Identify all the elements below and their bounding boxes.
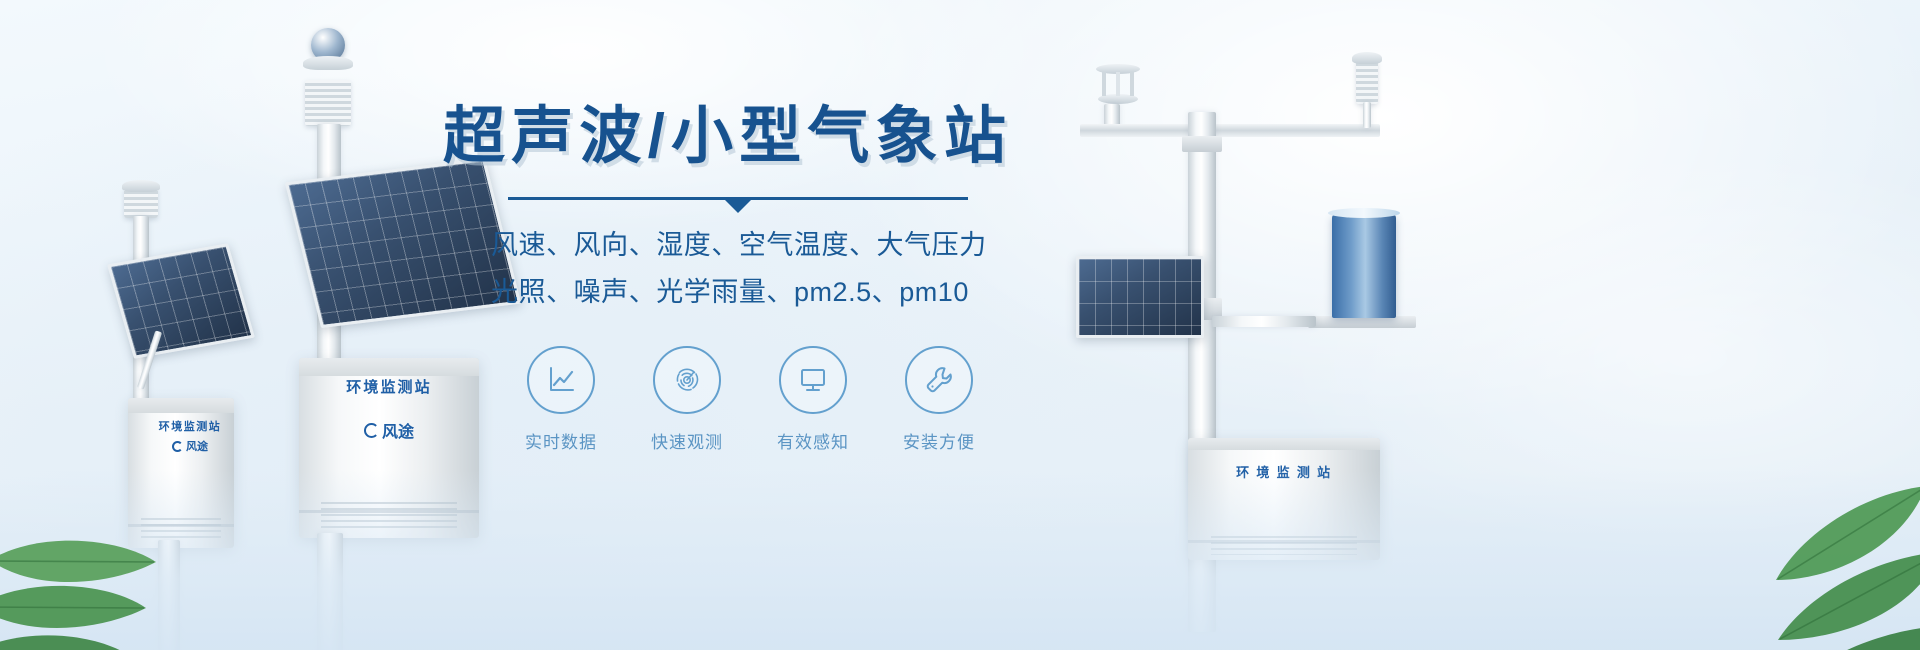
cabinet-brand-front: 风途	[172, 438, 208, 454]
rain-gauge-lip	[1328, 208, 1400, 218]
radar-sensing-icon	[670, 363, 704, 397]
feature-label-1: 实时数据	[525, 428, 597, 453]
solar-panel-front	[107, 243, 255, 359]
product-banner: 环境监测站 风途 环境监测站 风途	[0, 0, 1920, 650]
feature-circle-3	[779, 346, 847, 414]
cabinet-top-right	[1188, 438, 1380, 450]
feature-item-easy-install[interactable]: 安装方便	[889, 346, 989, 453]
anemometer-arm-1	[1102, 72, 1106, 96]
wrench-icon	[922, 363, 956, 397]
ground-haze	[0, 470, 1920, 650]
feature-list: 实时数据	[511, 346, 1043, 453]
sensor-cap-front	[122, 180, 160, 192]
subtitle-block: 风速、风向、湿度、空气温度、大气压力 光照、噪声、光学雨量、pm2.5、pm10	[491, 222, 1043, 317]
page-title: 超声波/小型气象站	[443, 104, 1043, 171]
rain-gauge	[1332, 214, 1396, 318]
optical-sensor-cap	[1352, 52, 1382, 64]
rain-gauge-arm	[1212, 316, 1316, 327]
feature-circle-1	[527, 346, 595, 414]
brand-text-front: 风途	[186, 438, 208, 454]
optical-sensor-right	[1356, 60, 1378, 104]
feature-label-3: 有效感知	[777, 428, 849, 453]
mast-collar-upper	[1182, 136, 1222, 152]
monitor-icon	[796, 363, 830, 397]
optical-sensor-stem	[1363, 102, 1371, 128]
temperature-shield-front	[124, 188, 158, 218]
feature-item-effective-sensing[interactable]: 有效感知	[763, 346, 863, 453]
brand-text-mid: 风途	[382, 418, 414, 442]
cabinet-brand-mid: 风途	[364, 418, 414, 442]
subtitle-line-2: 光照、噪声、光学雨量、pm2.5、pm10	[491, 269, 1043, 316]
cabinet-label-front: 环境监测站	[159, 418, 222, 434]
cabinet-top-front	[128, 398, 234, 413]
feature-label-2: 快速观测	[651, 428, 723, 453]
brand-logo-icon-front	[172, 441, 183, 452]
subtitle-line-1: 风速、风向、湿度、空气温度、大气压力	[491, 222, 1043, 269]
anemometer-arm-3	[1130, 72, 1134, 96]
anemometer-arm-2	[1116, 72, 1120, 96]
feature-circle-2	[653, 346, 721, 414]
solar-panel-right	[1076, 256, 1204, 338]
dome-base-mid	[303, 56, 353, 70]
temperature-shield-mid	[305, 80, 351, 126]
feature-circle-4	[905, 346, 973, 414]
ultrasonic-anemometer	[1096, 64, 1140, 108]
feature-item-fast-observation[interactable]: 快速观测	[637, 346, 737, 453]
title-divider	[508, 197, 968, 200]
brand-logo-icon-mid	[364, 423, 379, 438]
cabinet-label-mid: 环境监测站	[346, 376, 432, 397]
crossarm-right	[1080, 124, 1380, 137]
feature-item-realtime-data[interactable]: 实时数据	[511, 346, 611, 453]
banner-content: 超声波/小型气象站 风速、风向、湿度、空气温度、大气压力 光照、噪声、光学雨量、…	[443, 104, 1043, 453]
feature-label-4: 安装方便	[903, 428, 975, 453]
line-chart-icon	[544, 363, 578, 397]
